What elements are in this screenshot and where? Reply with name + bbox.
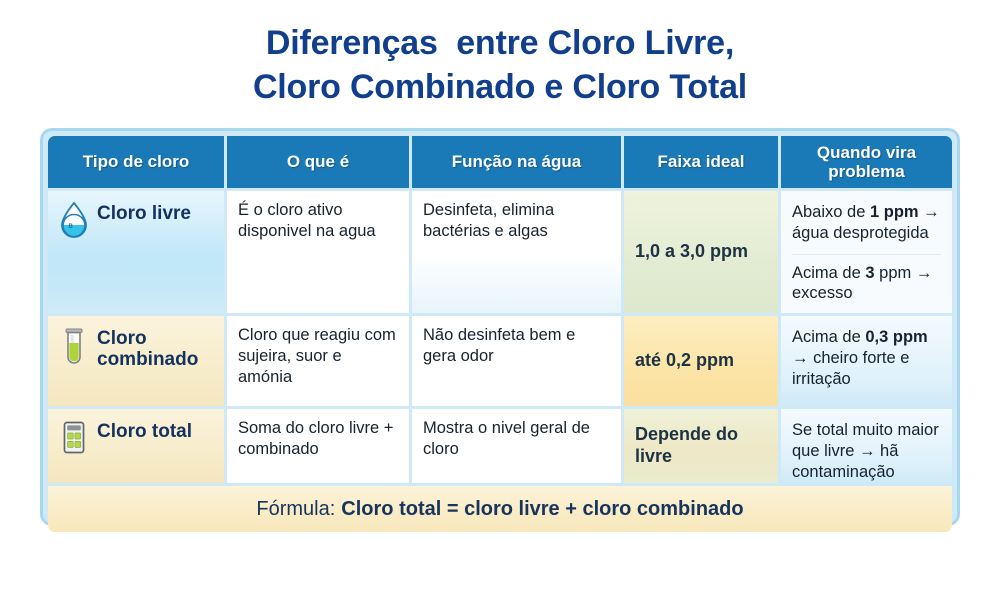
- row-2-type-label: Cloro combinado: [97, 326, 216, 371]
- column-header-faixa-ideal: Faixa ideal: [624, 136, 778, 188]
- table-header-row: Tipo de cloro O que é Função na água Fai…: [48, 136, 952, 188]
- formula-bar: Fórmula: Cloro total = cloro livre + clo…: [48, 486, 952, 532]
- problem-divider: [792, 254, 941, 255]
- row-1-type-cell: B Cloro livre: [48, 191, 224, 313]
- formula-equation: Cloro total = cloro livre + cloro combin…: [341, 498, 743, 521]
- row-2-problem-cell: Acima de 0,3 ppm → cheiro forte e irrita…: [781, 316, 952, 406]
- row-3-range-cell: Depende do livre: [624, 409, 778, 483]
- row-2-problem-item-1: Acima de 0,3 ppm → cheiro forte e irrita…: [792, 325, 941, 391]
- row-1-range-cell: 1,0 a 3,0 ppm: [624, 191, 778, 313]
- title-line-2: Cloro Combinado e Cloro Total: [0, 66, 1000, 110]
- row-2-function-cell: Não desinfeta bem e gera odor: [412, 316, 621, 406]
- table-grid: Tipo de cloro O que é Função na água Fai…: [48, 136, 952, 518]
- title-line-1: Diferenças entre Cloro Livre,: [0, 22, 1000, 66]
- test-strip-icon: [59, 419, 89, 457]
- infographic-page: Diferenças entre Cloro Livre, Cloro Comb…: [0, 0, 1000, 600]
- svg-text:B: B: [69, 224, 74, 230]
- row-2-range-cell: até 0,2 ppm: [624, 316, 778, 406]
- test-tube-icon: [59, 326, 89, 364]
- row-3-problem-item-1: Se total muito maior que livre → hã cont…: [792, 418, 941, 483]
- row-3-function-cell: Mostra o nivel geral de cloro: [412, 409, 621, 483]
- page-title: Diferenças entre Cloro Livre, Cloro Comb…: [0, 22, 1000, 109]
- water-droplet-icon: B: [59, 201, 89, 239]
- row-3-what-cell: Soma do cloro livre + combinado: [227, 409, 409, 483]
- row-1-problem-cell: Abaixo de 1 ppm → água desprotegida Acim…: [781, 191, 952, 313]
- row-3-problem-cell: Se total muito maior que livre → hã cont…: [781, 409, 952, 483]
- row-3-type-label: Cloro total: [97, 419, 192, 443]
- row-2-type-cell: Cloro combinado: [48, 316, 224, 406]
- column-header-o-que-e: O que é: [227, 136, 409, 188]
- row-1-problem-item-2: Acima de 3 ppm → excesso: [792, 261, 941, 307]
- row-1-type-label: Cloro livre: [97, 201, 191, 225]
- table-row: Cloro total Soma do cloro livre + combin…: [48, 409, 952, 483]
- row-1-function-cell: Desinfeta, elimina bactérias e algas: [412, 191, 621, 313]
- column-header-tipo-de-cloro: Tipo de cloro: [48, 136, 224, 188]
- table-row: B Cloro livre É o cloro ativo disponivel…: [48, 191, 952, 313]
- comparison-table: Tipo de cloro O que é Função na água Fai…: [40, 128, 960, 526]
- table-row: Cloro combinado Cloro que reagiu com suj…: [48, 316, 952, 406]
- column-header-funcao-na-agua: Função na água: [412, 136, 621, 188]
- row-1-what-cell: É o cloro ativo disponivel na agua: [227, 191, 409, 313]
- row-2-what-cell: Cloro que reagiu com sujeira, suor e amó…: [227, 316, 409, 406]
- row-1-problem-item-1: Abaixo de 1 ppm → água desprotegida: [792, 200, 941, 246]
- row-3-type-cell: Cloro total: [48, 409, 224, 483]
- formula-row: Fórmula: Cloro total = cloro livre + clo…: [48, 486, 952, 532]
- formula-label: Fórmula:: [256, 498, 335, 521]
- column-header-quando-vira-problema: Quando vira problema: [781, 136, 952, 188]
